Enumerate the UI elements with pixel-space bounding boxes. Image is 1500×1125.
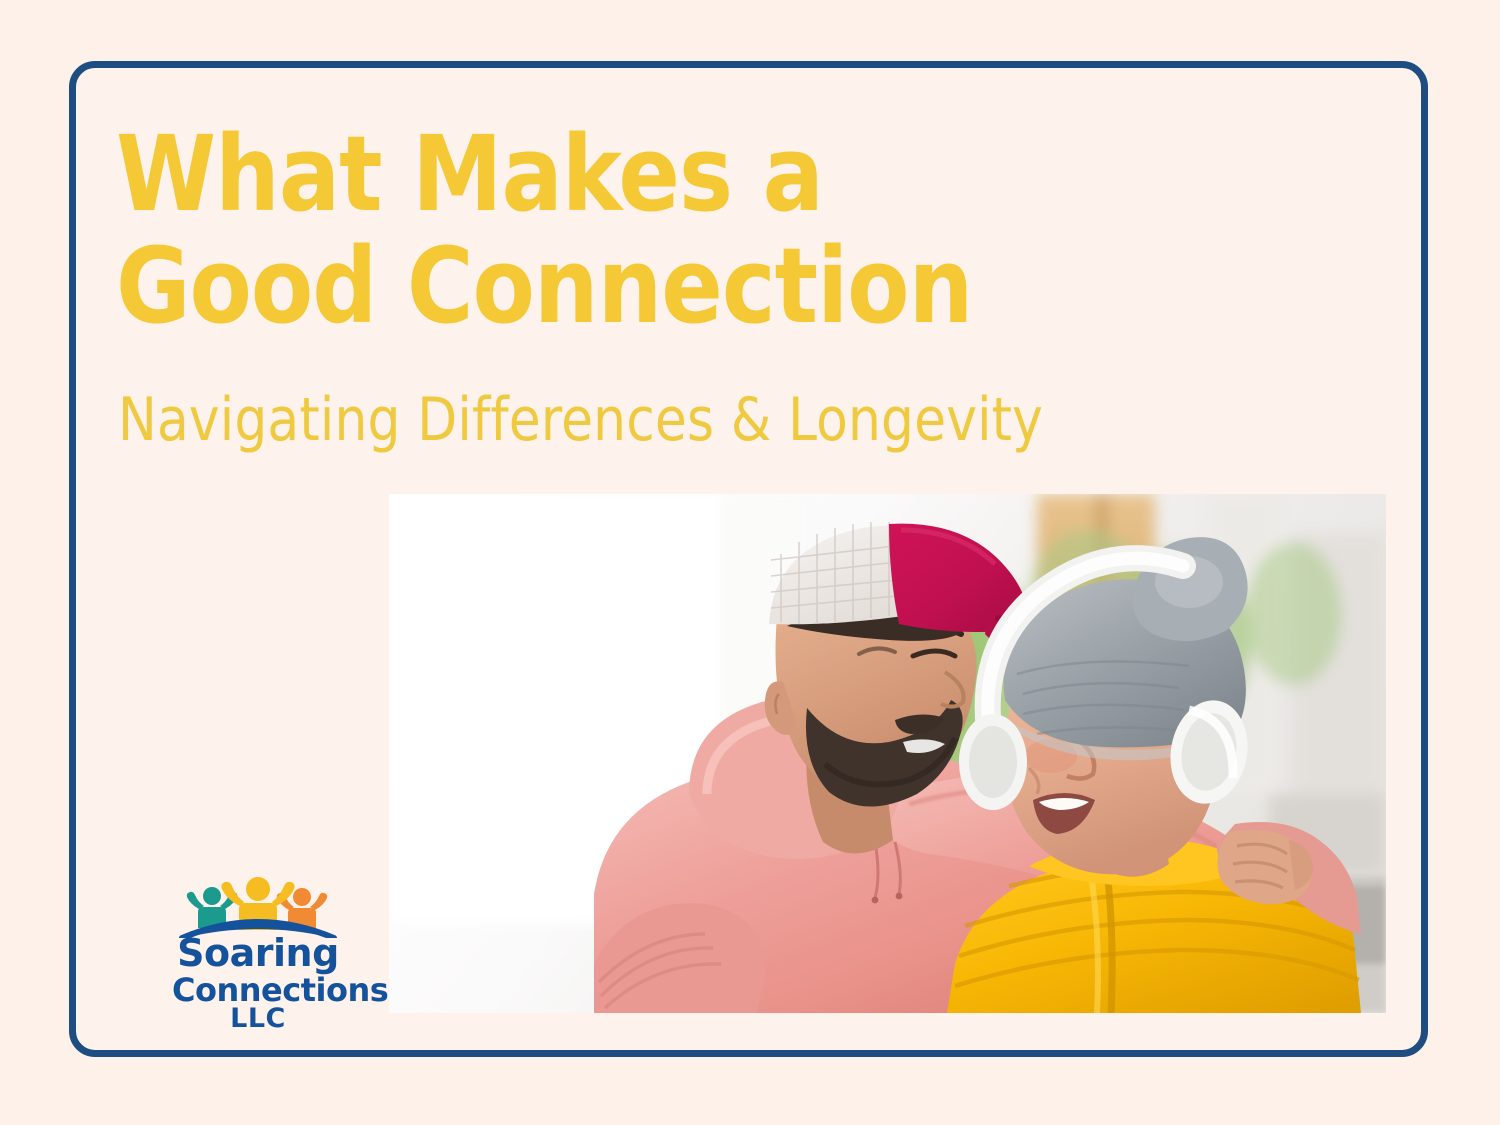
title-line-2: Good Connection — [116, 230, 1086, 342]
title-line-1: What Makes a — [116, 118, 1086, 230]
hero-photo-illustration — [389, 494, 1386, 1013]
logo-figures-icon — [172, 876, 344, 938]
soaring-connections-logo: Soaring Connections LLC — [172, 876, 344, 1038]
page-title: What Makes a Good Connection — [116, 118, 1116, 342]
page-subtitle: Navigating Differences & Longevity — [118, 386, 1043, 454]
logo-word-soaring: Soaring — [172, 932, 344, 974]
logo-word-llc: LLC — [172, 1004, 344, 1034]
hero-photo — [389, 494, 1386, 1013]
logo-mark-svg — [172, 876, 344, 938]
slide-canvas: What Makes a Good Connection Navigating … — [0, 0, 1500, 1125]
